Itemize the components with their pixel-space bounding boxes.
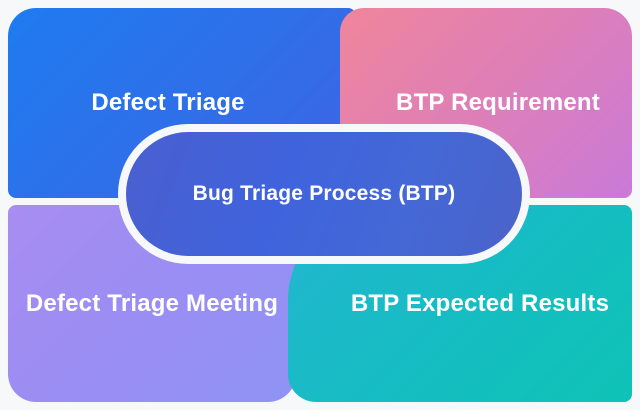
- center-node-label: Bug Triage Process (BTP): [193, 182, 456, 206]
- quadrant-label-defect-triage-meeting: Defect Triage Meeting: [26, 290, 278, 318]
- quadrant-label-defect-triage: Defect Triage: [91, 89, 244, 117]
- quadrant-label-btp-expected-results: BTP Expected Results: [351, 290, 609, 318]
- quadrant-label-btp-requirement: BTP Requirement: [396, 89, 600, 117]
- center-node-wrapper: Bug Triage Process (BTP): [118, 124, 530, 264]
- center-node[interactable]: Bug Triage Process (BTP): [126, 132, 522, 256]
- diagram-canvas: Defect Triage BTP Requirement Defect Tri…: [0, 0, 640, 410]
